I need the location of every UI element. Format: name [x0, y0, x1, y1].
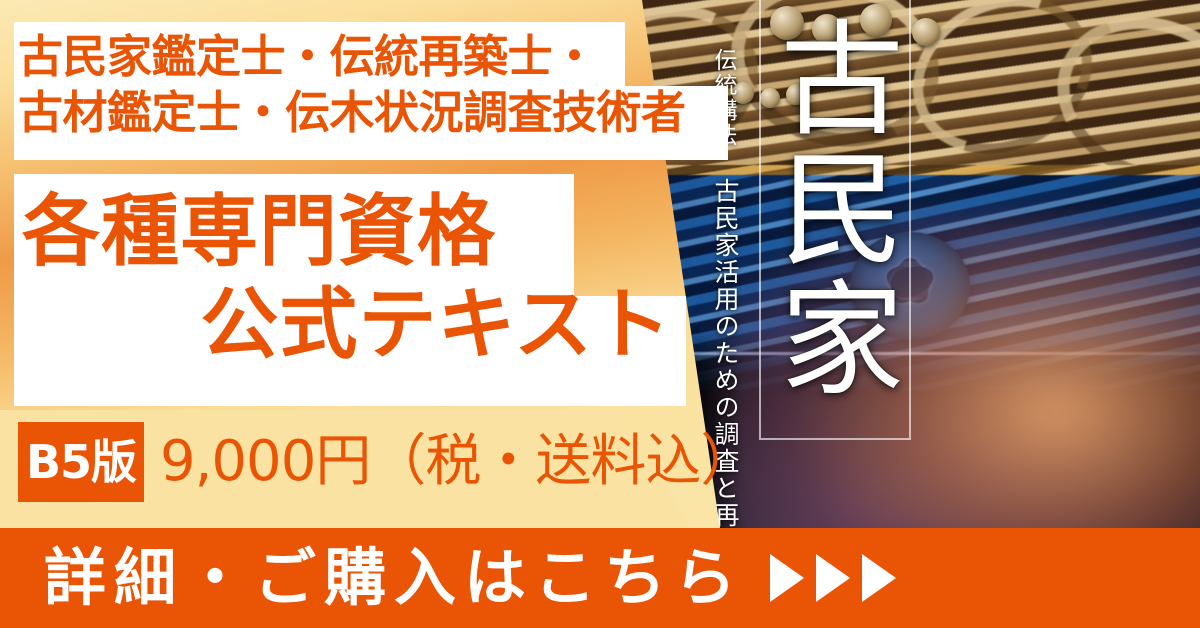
carving-bead — [912, 18, 940, 46]
promotional-banner: 古民家 伝統構法 古民家活用のための調査と再生の 古民家鑑定士・伝統再築士・ 古… — [0, 0, 1200, 628]
headline-line-2: 公式テキスト — [22, 277, 686, 374]
headline-text: 各種専門資格 公式テキスト — [22, 184, 686, 373]
chevron-right-icon — [770, 554, 804, 602]
cover-main-title: 古民家 — [768, 14, 900, 404]
cta-bar[interactable]: 詳細・ご購入はこちら — [0, 528, 1200, 628]
qualifications-line-1: 古民家鑑定士・伝統再築士・ — [18, 28, 724, 86]
chevron-right-icon — [862, 554, 896, 602]
price-text: 9,000円（税・送料込） — [160, 424, 755, 500]
qualifications-line-2: 古材鑑定士・伝木状況調査技術者 — [18, 84, 724, 142]
format-badge: B5版 — [18, 422, 144, 502]
cta-label: 詳細・ご購入はこちら — [44, 547, 744, 609]
cta-arrow-group — [770, 554, 896, 602]
chevron-right-icon — [816, 554, 850, 602]
qualifications-text: 古民家鑑定士・伝統再築士・ 古材鑑定士・伝木状況調査技術者 — [18, 28, 724, 141]
headline-line-1: 各種専門資格 — [22, 187, 496, 277]
